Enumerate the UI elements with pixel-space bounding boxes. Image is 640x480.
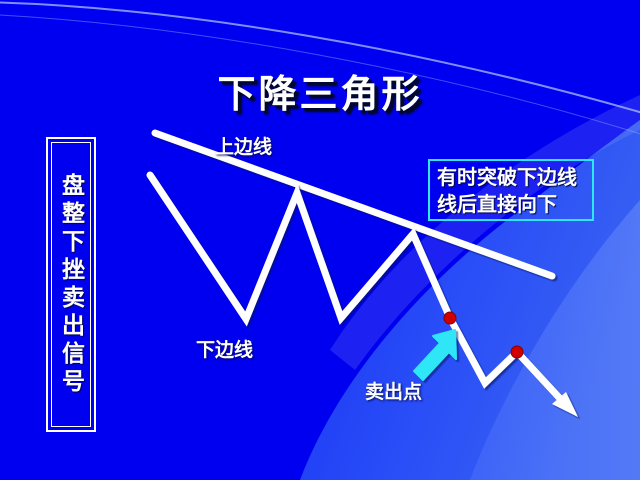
label-lower-line: 下边线	[196, 335, 253, 362]
sell-signal-arrow	[414, 330, 456, 380]
retest-point-marker	[511, 346, 523, 358]
label-sell-point: 卖出点	[365, 377, 422, 404]
slide-canvas: 下降三角形 盘整下挫卖出信号 有时突破下边线线后直接向下	[0, 0, 640, 480]
breakdown-point-marker	[444, 312, 456, 324]
descending-triangle-chart	[0, 0, 640, 480]
label-upper-line: 上边线	[215, 132, 272, 159]
